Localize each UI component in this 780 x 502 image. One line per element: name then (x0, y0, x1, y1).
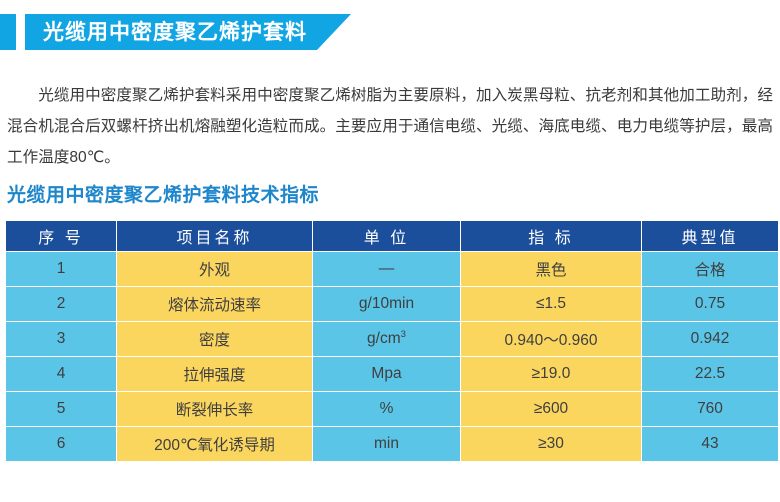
cell-item: 断裂伸长率 (117, 392, 312, 426)
cell-spec: 黑色 (461, 252, 641, 286)
cell-typical: 合格 (642, 252, 778, 286)
cell-item: 200℃氧化诱导期 (117, 427, 312, 461)
table-body: 1外观—黑色合格2熔体流动速率g/10min≤1.50.753密度g/cm30.… (6, 252, 778, 461)
column-header-typical: 典型值 (642, 221, 778, 251)
cell-item: 密度 (117, 322, 312, 356)
table-row: 6200℃氧化诱导期min≥3043 (6, 427, 778, 461)
cell-spec: ≤1.5 (461, 287, 641, 321)
page-title-banner: 光缆用中密度聚乙烯护套料 (0, 14, 351, 50)
cell-no: 3 (6, 322, 116, 356)
banner-accent-square (0, 14, 16, 50)
intro-paragraph: 光缆用中密度聚乙烯护套料采用中密度聚乙烯树脂为主要原料，加入炭黑母粒、抗老剂和其… (7, 80, 773, 173)
unit-superscript: 3 (401, 329, 406, 340)
cell-item: 外观 (117, 252, 312, 286)
section-heading: 光缆用中密度聚乙烯护套料技术指标 (7, 180, 319, 207)
column-header-item: 项目名称 (117, 221, 312, 251)
cell-typical: 0.942 (642, 322, 778, 356)
cell-unit: — (313, 252, 460, 286)
banner-body: 光缆用中密度聚乙烯护套料 (25, 14, 351, 50)
cell-item: 拉伸强度 (117, 357, 312, 391)
cell-spec: ≥600 (461, 392, 641, 426)
cell-unit: % (313, 392, 460, 426)
column-header-no: 序 号 (6, 221, 116, 251)
table-row: 3密度g/cm30.940～0.9600.942 (6, 322, 778, 356)
cell-typical: 760 (642, 392, 778, 426)
table-row: 2熔体流动速率g/10min≤1.50.75 (6, 287, 778, 321)
cell-no: 2 (6, 287, 116, 321)
cell-unit: g/10min (313, 287, 460, 321)
cell-typical: 22.5 (642, 357, 778, 391)
table-row: 5断裂伸长率%≥600760 (6, 392, 778, 426)
column-header-spec: 指 标 (461, 221, 641, 251)
cell-unit: min (313, 427, 460, 461)
banner-spacer (16, 14, 25, 50)
table-row: 4拉伸强度Mpa≥19.022.5 (6, 357, 778, 391)
technical-spec-table: 序 号 项目名称 单 位 指 标 典型值 1外观—黑色合格2熔体流动速率g/10… (5, 220, 779, 462)
table-header-row: 序 号 项目名称 单 位 指 标 典型值 (6, 221, 778, 251)
cell-typical: 43 (642, 427, 778, 461)
page-title: 光缆用中密度聚乙烯护套料 (43, 22, 307, 43)
cell-typical: 0.75 (642, 287, 778, 321)
cell-unit: Mpa (313, 357, 460, 391)
cell-spec: ≥19.0 (461, 357, 641, 391)
cell-no: 4 (6, 357, 116, 391)
cell-spec: 0.940～0.960 (461, 322, 641, 356)
cell-no: 6 (6, 427, 116, 461)
column-header-unit: 单 位 (313, 221, 460, 251)
cell-no: 1 (6, 252, 116, 286)
cell-spec: ≥30 (461, 427, 641, 461)
cell-unit: g/cm3 (313, 322, 460, 356)
cell-no: 5 (6, 392, 116, 426)
table-row: 1外观—黑色合格 (6, 252, 778, 286)
cell-item: 熔体流动速率 (117, 287, 312, 321)
